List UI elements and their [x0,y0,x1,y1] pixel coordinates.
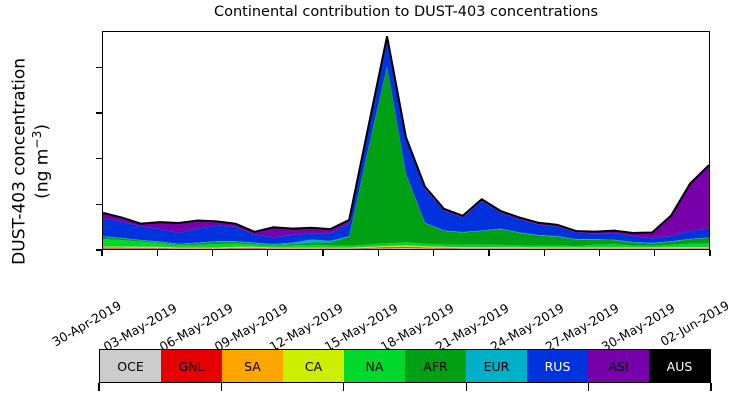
legend-label: GNL [178,359,204,374]
colorbar-tick-mark [98,383,99,391]
stacked-area-plot [103,32,709,249]
y-axis-label: DUST-403 concentration (ng m−3) [11,41,54,281]
chart-figure: Continental contribution to DUST-403 con… [0,0,730,402]
y-axis-label-units: (ng m−3) [33,124,53,199]
y-axis-label-line1: DUST-403 concentration [10,58,30,265]
legend-swatch-sa[interactable]: SA [222,350,283,382]
x-axis-tick-mark [709,250,710,256]
legend-swatch-oce[interactable]: OCE [100,350,161,382]
legend-swatch-afr[interactable]: AFR [405,350,466,382]
x-axis-tick-mark [267,250,268,256]
continent-colorbar-legend[interactable]: OCEGNLSACANAAFREURRUSASIAUS [99,349,711,383]
legend-swatch-asi[interactable]: ASI [588,350,649,382]
y-axis-units-suffix: ) [33,124,53,131]
legend-label: NA [366,359,384,374]
colorbar-tick-mark [221,383,222,391]
legend-swatch-eur[interactable]: EUR [466,350,527,382]
x-axis-tick-mark [378,250,379,256]
y-axis-units-exponent: −3 [30,131,44,149]
legend-label: RUS [545,359,571,374]
legend-label: CA [305,359,322,374]
plot-area [102,31,710,250]
x-axis-tick-mark [544,250,545,256]
colorbar-tick-mark [588,383,589,391]
legend-label: ASI [608,359,628,374]
colorbar-tick-mark [343,383,344,391]
colorbar-tick-mark [466,383,467,391]
legend-label: SA [244,359,261,374]
x-axis-tick-mark [212,250,213,256]
x-axis-tick-mark [433,250,434,256]
legend-label: OCE [117,359,143,374]
y-axis-units-prefix: (ng m [33,149,53,199]
legend-label: AFR [423,359,447,374]
legend-swatch-na[interactable]: NA [344,350,405,382]
x-axis-tick-mark [488,250,489,256]
x-axis-tick-mark [157,250,158,256]
x-axis-tick-mark [654,250,655,256]
chart-title: Continental contribution to DUST-403 con… [102,4,710,20]
legend-swatch-aus[interactable]: AUS [649,350,710,382]
legend-label: EUR [484,359,510,374]
legend-label: AUS [667,359,693,374]
legend-swatch-rus[interactable]: RUS [527,350,588,382]
x-axis-tick-mark [599,250,600,256]
legend-swatch-gnl[interactable]: GNL [161,350,222,382]
x-axis-tick-mark [101,250,102,256]
colorbar-tick-mark [710,383,711,391]
legend-swatch-ca[interactable]: CA [283,350,344,382]
x-axis-tick-mark [322,250,323,256]
